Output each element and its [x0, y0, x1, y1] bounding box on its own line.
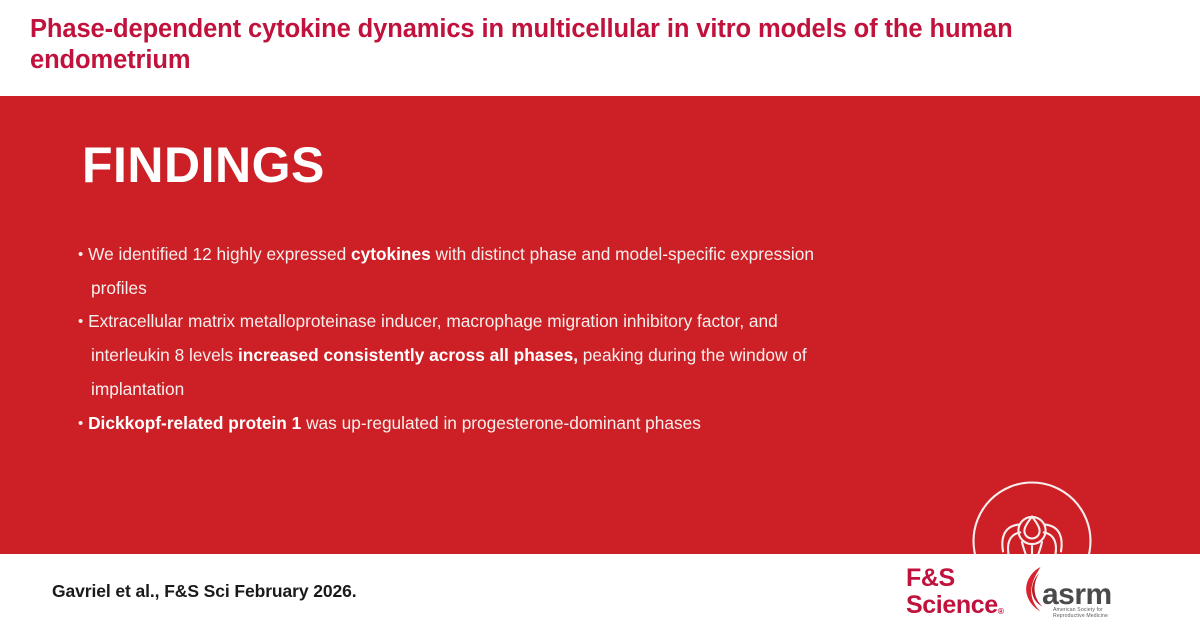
title-band: Phase-dependent cytokine dynamics in mul…: [0, 0, 1200, 96]
fs-logo-line2: Science®: [906, 592, 1004, 619]
asrm-logo: asrm American Society for Reproductive M…: [1019, 566, 1123, 618]
finding-text-2: Dickkopf-related protein 1 was up-regula…: [88, 413, 701, 433]
findings-panel: FINDINGS • We identified 12 highly expre…: [0, 96, 1200, 554]
list-item: • Extracellular matrix metalloproteinase…: [78, 305, 853, 406]
registered-mark-icon: ®: [998, 606, 1004, 616]
fs-logo-line1: F&S: [906, 565, 1004, 592]
asrm-tagline-line2: Reproductive Medicine: [1053, 613, 1108, 618]
list-item: • We identified 12 highly expressed cyto…: [78, 238, 853, 305]
finding-text-0: We identified 12 highly expressed cytoki…: [88, 244, 814, 298]
page-title: Phase-dependent cytokine dynamics in mul…: [30, 14, 1110, 76]
fs-science-logo: F&S Science®: [906, 565, 1004, 619]
bullet-icon: •: [78, 415, 83, 432]
footer-bar: Gavriel et al., F&S Sci February 2026. F…: [0, 554, 1200, 630]
asrm-wordmark: asrm: [1042, 578, 1112, 611]
finding-text-1: Extracellular matrix metalloproteinase i…: [88, 311, 807, 398]
findings-heading: FINDINGS: [82, 140, 325, 190]
findings-poster: Phase-dependent cytokine dynamics in mul…: [0, 0, 1200, 630]
bullet-icon: •: [78, 314, 83, 331]
citation-text: Gavriel et al., F&S Sci February 2026.: [52, 581, 357, 602]
findings-list: • We identified 12 highly expressed cyto…: [78, 238, 853, 440]
list-item: • Dickkopf-related protein 1 was up-regu…: [78, 407, 853, 441]
bullet-icon: •: [78, 246, 83, 263]
